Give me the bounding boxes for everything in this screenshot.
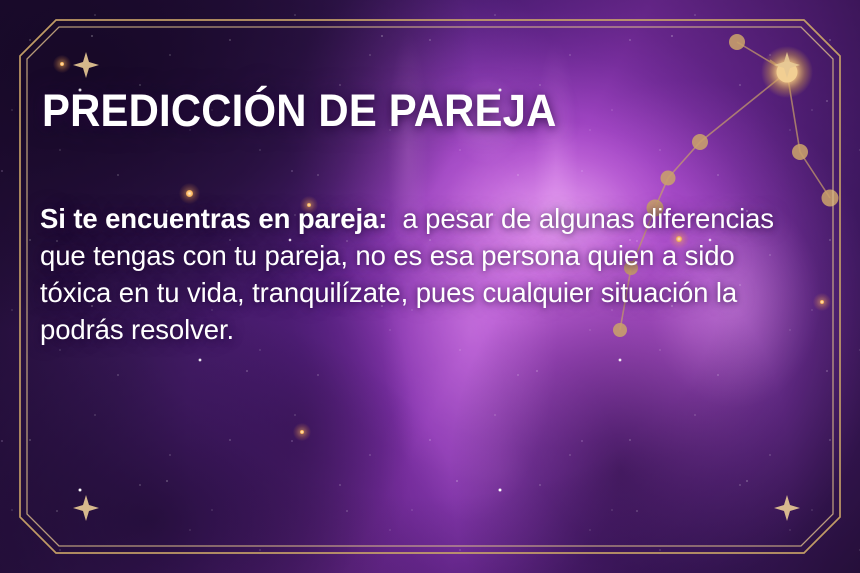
prediction-card: PREDICCIÓN DE PAREJA Si te encuentras en… xyxy=(0,0,860,573)
prediction-body: Si te encuentras en pareja: a pesar de a… xyxy=(40,200,812,348)
page-title: PREDICCIÓN DE PAREJA xyxy=(42,88,557,133)
prediction-lead: Si te encuentras en pareja: xyxy=(40,203,387,234)
content-layer: PREDICCIÓN DE PAREJA Si te encuentras en… xyxy=(0,0,860,573)
